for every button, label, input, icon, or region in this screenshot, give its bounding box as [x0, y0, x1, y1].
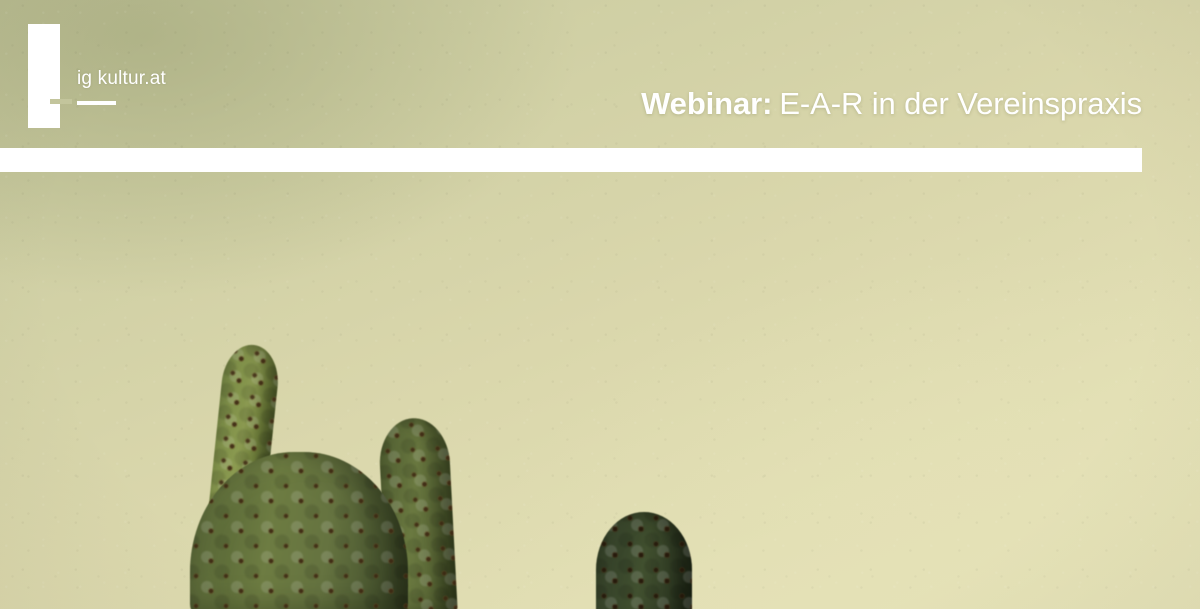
- header-divider-bar: [0, 148, 1142, 172]
- brand-underline-accent: [77, 101, 116, 105]
- page-title-label: Webinar:: [641, 86, 772, 121]
- logo-notch-icon: [50, 99, 72, 104]
- page-title: Webinar:E-A-R in der Vereinspraxis: [641, 87, 1142, 121]
- header-band: ig kultur.at Webinar:E-A-R in der Verein…: [0, 0, 1200, 148]
- brand-name: ig kultur.at: [77, 68, 166, 90]
- webinar-title-card: ig kultur.at Webinar:E-A-R in der Verein…: [0, 0, 1200, 609]
- ig-kultur-logo-icon[interactable]: [28, 24, 60, 128]
- page-title-subject: E-A-R in der Vereinspraxis: [779, 86, 1142, 121]
